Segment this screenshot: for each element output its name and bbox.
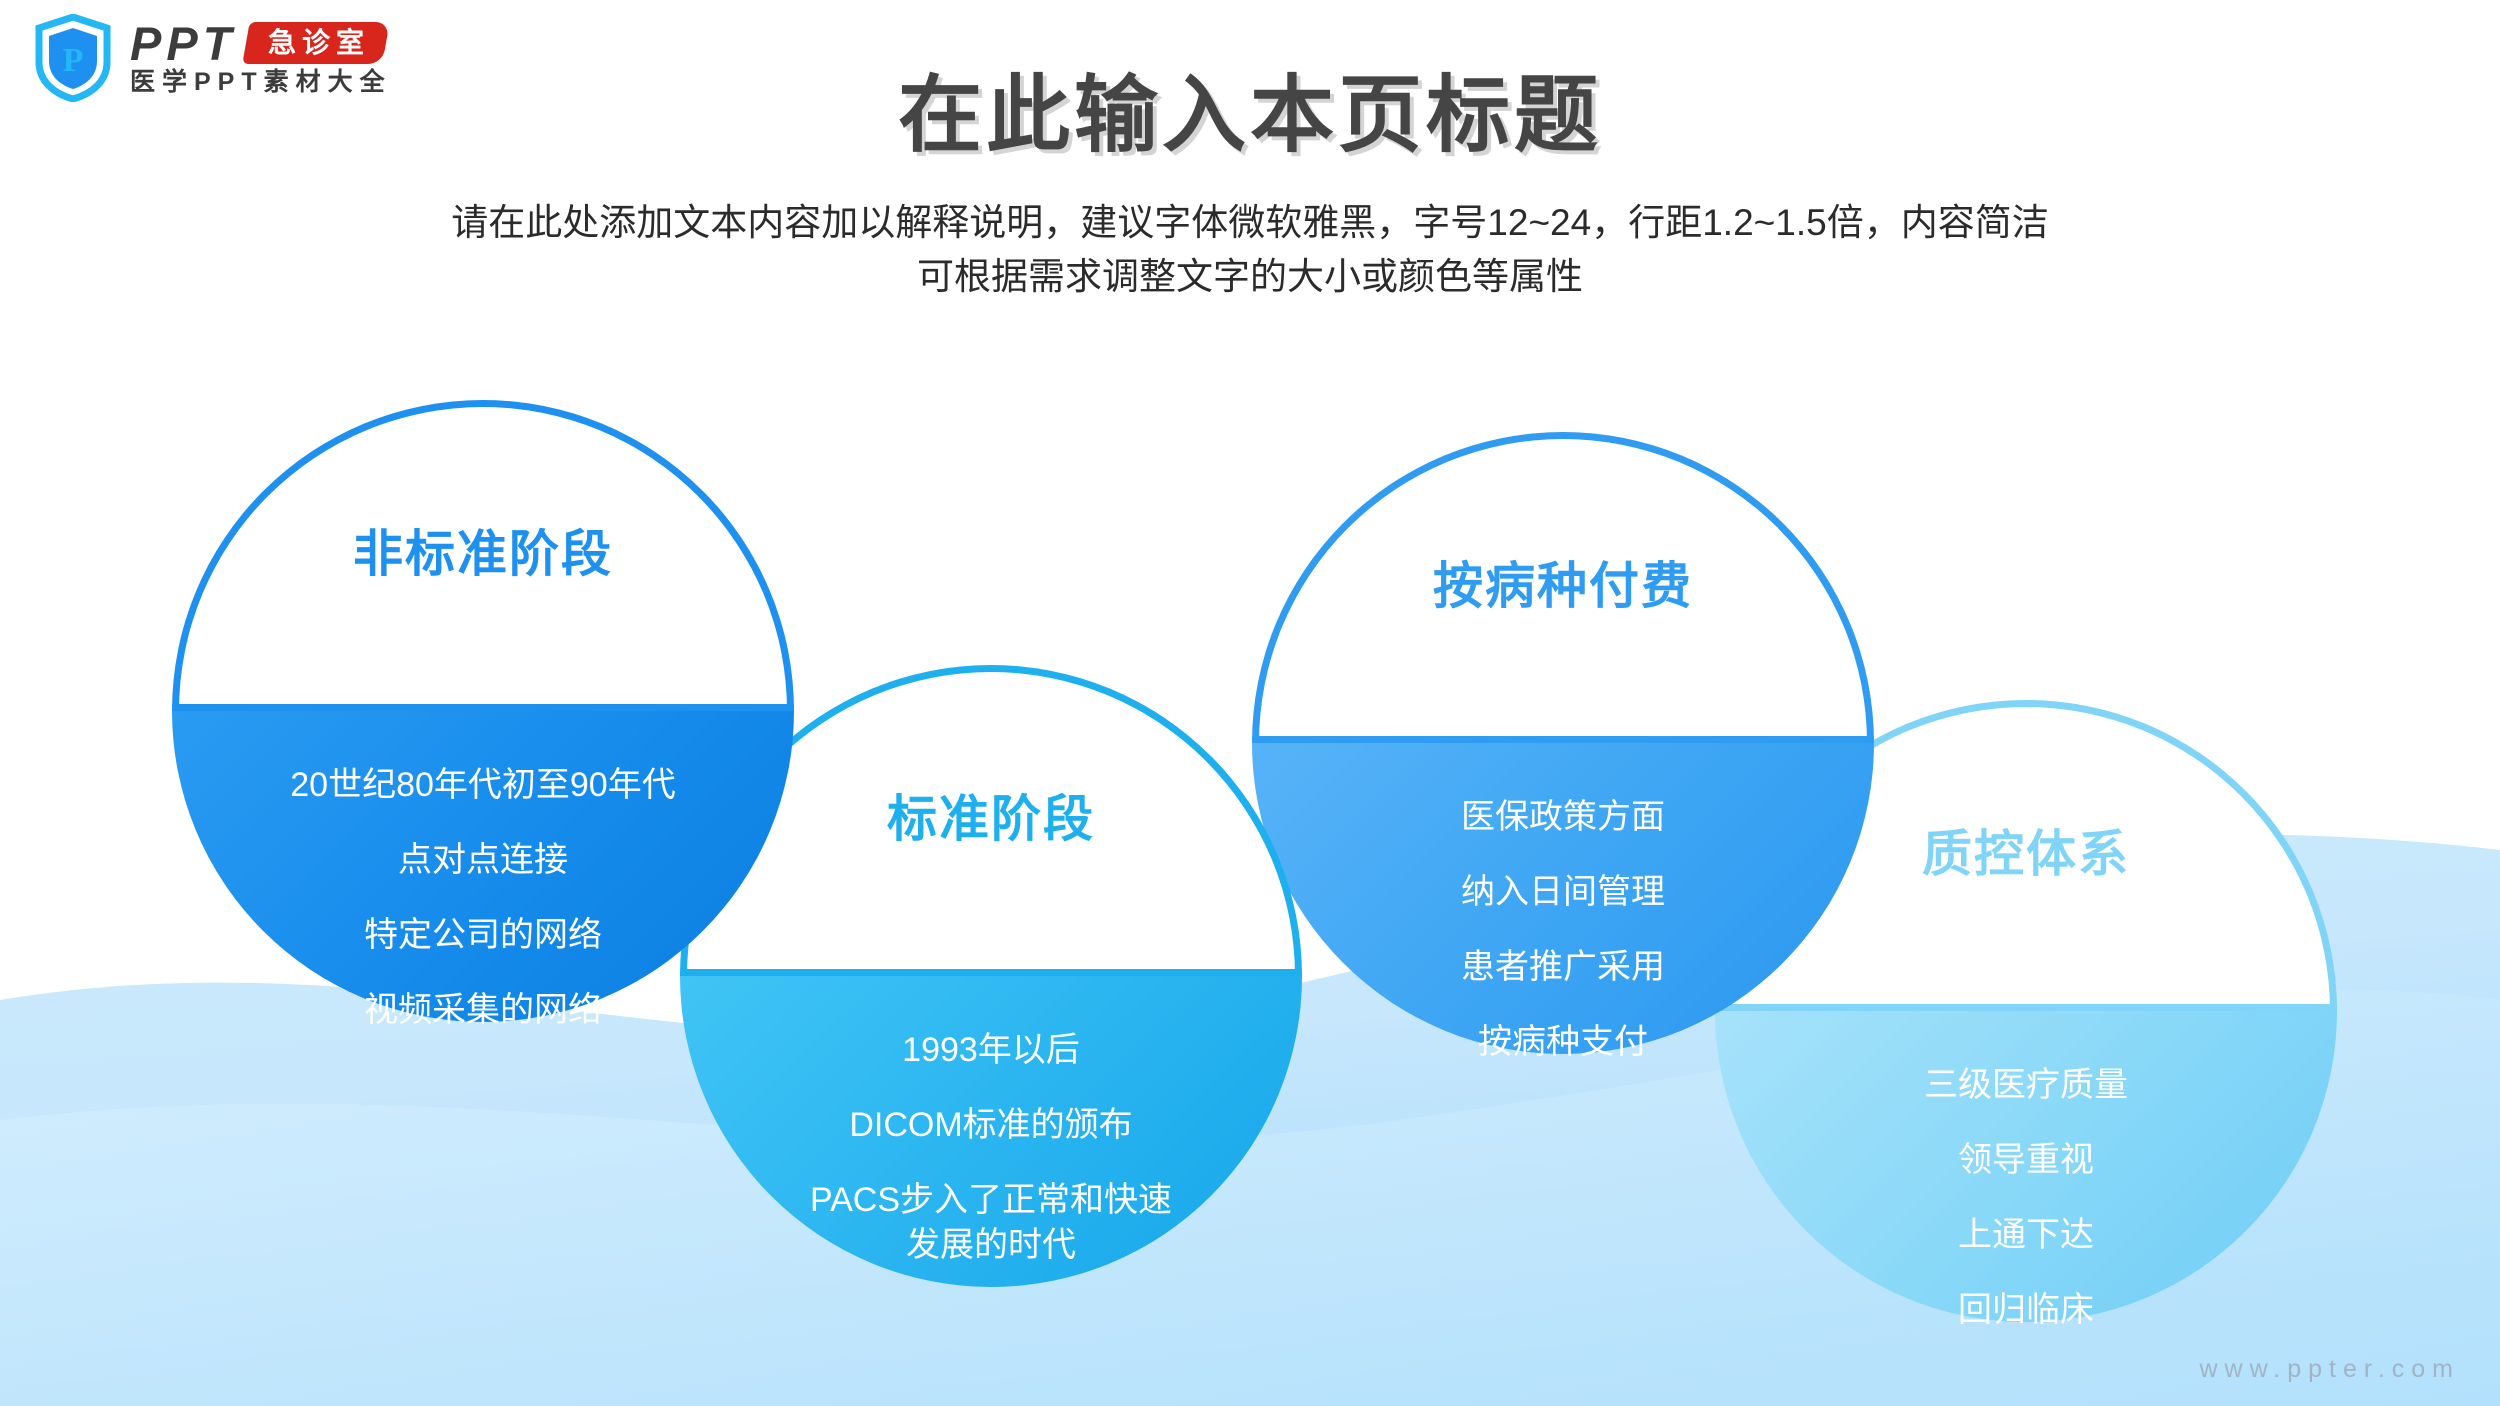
stage-circle-2-item-3: PACS步入了正常和快速 发展的时代	[810, 1178, 1172, 1268]
logo-badge-text: 急诊室	[268, 29, 370, 57]
brand-logo[interactable]: P PPT 急诊室 医学PPT素材大全	[34, 14, 392, 102]
stage-circle-2-title: 标准阶段	[887, 779, 1095, 851]
stage-circle-4-item-1: 三级医疗质量	[1924, 1063, 2128, 1108]
stage-circle-2-item-1: 1993年以后	[902, 1028, 1080, 1073]
stage-circle-1-item-2: 点对点连接	[398, 838, 568, 883]
page-subtitle-line-2: 可根据需求调整文字的大小或颜色等属性	[0, 250, 2500, 304]
stage-circle-3-item-3: 患者推广采用	[1461, 945, 1665, 990]
logo-badge: 急诊室	[243, 22, 390, 64]
stage-circle-1-dome: 非标准阶段	[172, 400, 794, 711]
stage-circle-1-item-1: 20世纪80年代初至90年代	[290, 763, 675, 808]
page-subtitle-line-1: 请在此处添加文本内容加以解释说明，建议字体微软雅黑，字号12~24，行距1.2~…	[0, 196, 2500, 250]
stage-circle-3-item-2: 纳入日间管理	[1461, 870, 1665, 915]
stage-circle-1-item-4: 视频采集的网络	[364, 988, 602, 1033]
stage-circle-4-title: 质控体系	[1922, 814, 2130, 886]
stage-circle-1[interactable]: 非标准阶段 20世纪80年代初至90年代 点对点连接 特定公司的网络 视频采集的…	[172, 400, 794, 1022]
svg-text:P: P	[63, 42, 84, 79]
stage-circle-3-item-1: 医保政策方面	[1461, 795, 1665, 840]
stage-circle-1-item-3: 特定公司的网络	[364, 913, 602, 958]
logo-brand-text: PPT	[130, 20, 236, 67]
stage-circle-2-body: 1993年以后 DICOM标准的颁布 PACS步入了正常和快速 发展的时代	[680, 976, 1302, 1287]
stage-circle-4-item-2: 领导重视	[1958, 1138, 2094, 1183]
stage-circle-4-body: 三级医疗质量 领导重视 上通下达 回归临床	[1715, 1011, 2337, 1322]
stage-circle-4-item-4: 回归临床	[1958, 1288, 2094, 1333]
stage-circle-4-item-3: 上通下达	[1958, 1213, 2094, 1258]
shield-icon: P	[34, 14, 112, 102]
site-watermark: www.ppter.com	[2199, 1355, 2460, 1384]
page-subtitle: 请在此处添加文本内容加以解释说明，建议字体微软雅黑，字号12~24，行距1.2~…	[0, 196, 2500, 303]
stage-circle-3[interactable]: 按病种付费 医保政策方面 纳入日间管理 患者推广采用 按病种支付	[1252, 432, 1874, 1054]
stage-circle-3-dome: 按病种付费	[1252, 432, 1874, 743]
logo-tagline: 医学PPT素材大全	[130, 69, 392, 97]
stage-circle-3-item-4: 按病种支付	[1478, 1020, 1648, 1065]
slide-canvas: P PPT 急诊室 医学PPT素材大全 在此输入本页标题 请在此处添加文本内容加…	[0, 0, 2500, 1406]
stage-circle-2-item-2: DICOM标准的颁布	[849, 1103, 1132, 1148]
stage-circle-3-title: 按病种付费	[1433, 546, 1693, 618]
stage-circle-1-title: 非标准阶段	[353, 514, 613, 586]
